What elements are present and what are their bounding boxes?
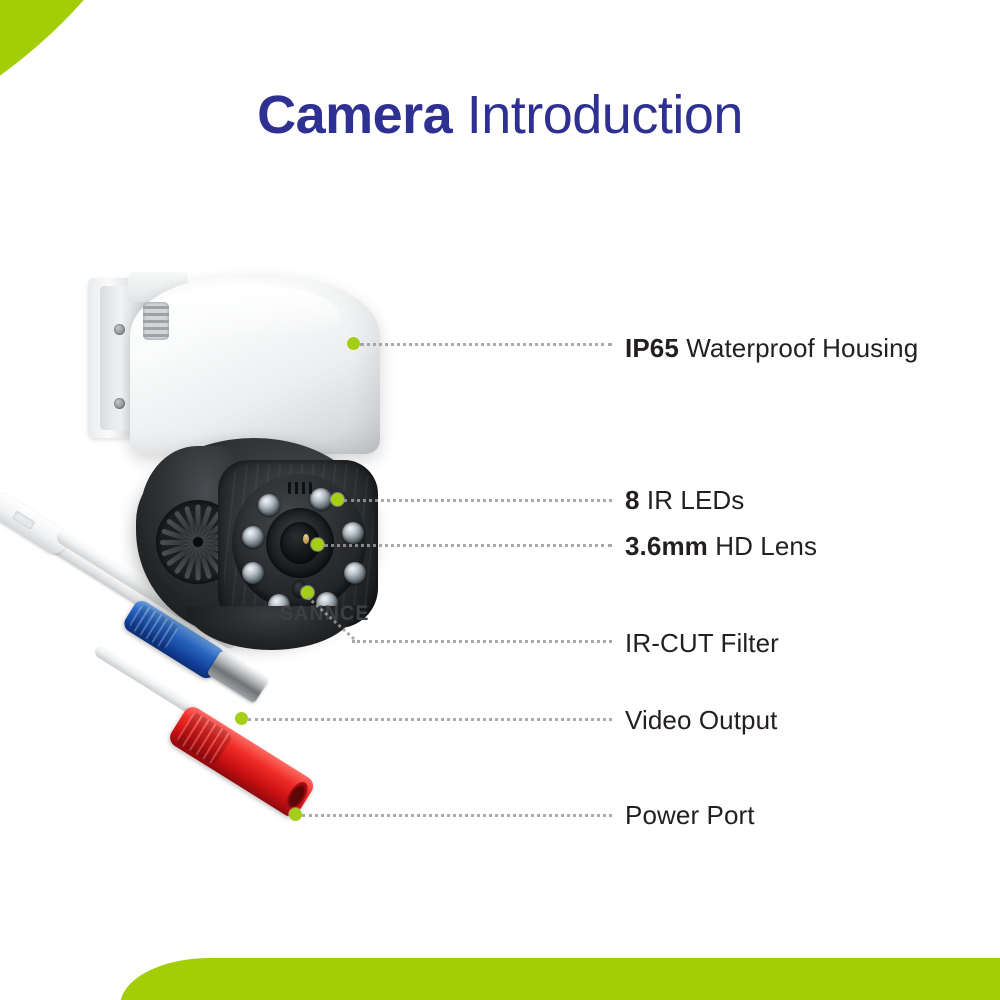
callout-leader-diagonal-ir-cut-filter [307,596,355,640]
callout-normal-video-output: Video Output [625,705,778,735]
callout-normal-hd-lens: HD Lens [708,531,817,561]
callout-leader-ip65-waterproof-housing [360,343,612,346]
callout-strong-ip65: IP65 [625,333,679,363]
callout-normal-ir-cut-filter: IR-CUT Filter [625,628,779,658]
callout-label-hd-lens: 3.6mm HD Lens [625,531,817,561]
callout-normal-power-port: Power Port [625,800,755,830]
callout-marker-ir-leds[interactable] [331,493,344,506]
callout-normal-ip65: Waterproof Housing [679,333,918,363]
callout-label-video-output: Video Output [625,705,778,735]
callout-label-ir-cut-filter: IR-CUT Filter [625,628,779,658]
callout-marker-ip65-waterproof-housing[interactable] [347,337,360,350]
callout-leader-video-output [248,718,612,721]
callout-label-power-port: Power Port [625,800,755,830]
infographic-page: Camera Introduction [0,0,1000,1000]
callout-strong-ir-leds: 8 [625,485,640,515]
callout-label-ir-leds: 8 IR LEDs [625,485,744,515]
callout-leader-ir-cut-filter [352,640,612,643]
callout-normal-ir-leds: IR LEDs [640,485,745,515]
callout-leader-power-port [302,814,612,817]
callout-strong-hd-lens: 3.6mm [625,531,708,561]
callout-marker-hd-lens[interactable] [311,538,324,551]
callout-marker-power-port[interactable] [289,808,302,821]
callout-leader-ir-leds [344,499,612,502]
callout-layer: IP65 Waterproof Housing 8 IR LEDs 3.6mm … [0,0,1000,1000]
callout-marker-video-output[interactable] [235,712,248,725]
callout-leader-hd-lens [324,544,612,547]
callout-label-ip65-waterproof-housing: IP65 Waterproof Housing [625,333,918,363]
